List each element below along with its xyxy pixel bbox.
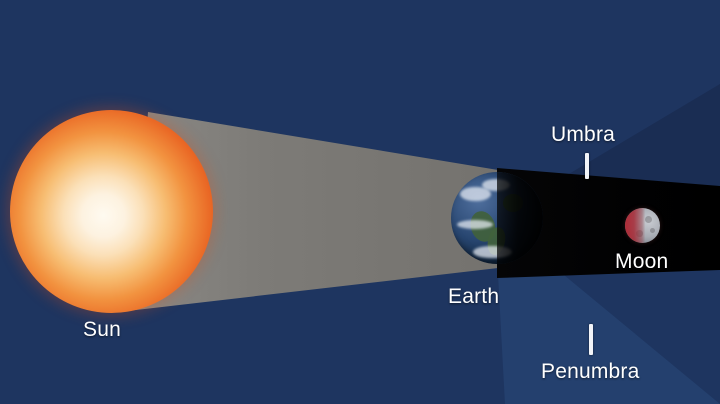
sun-sphere — [10, 110, 213, 313]
moon-sphere — [625, 208, 660, 243]
earth-night-side — [497, 172, 543, 264]
earth-cloud — [457, 220, 494, 229]
moon-crater — [650, 228, 656, 234]
umbra-pointer-tick — [585, 153, 589, 179]
moon-crater — [645, 216, 652, 223]
earth-sphere — [451, 172, 543, 264]
lunar-eclipse-diagram: Sun Earth Moon Umbra Penumbra — [0, 0, 720, 404]
penumbra-pointer-tick — [589, 324, 593, 355]
moon-eclipsed-limb — [625, 208, 645, 243]
